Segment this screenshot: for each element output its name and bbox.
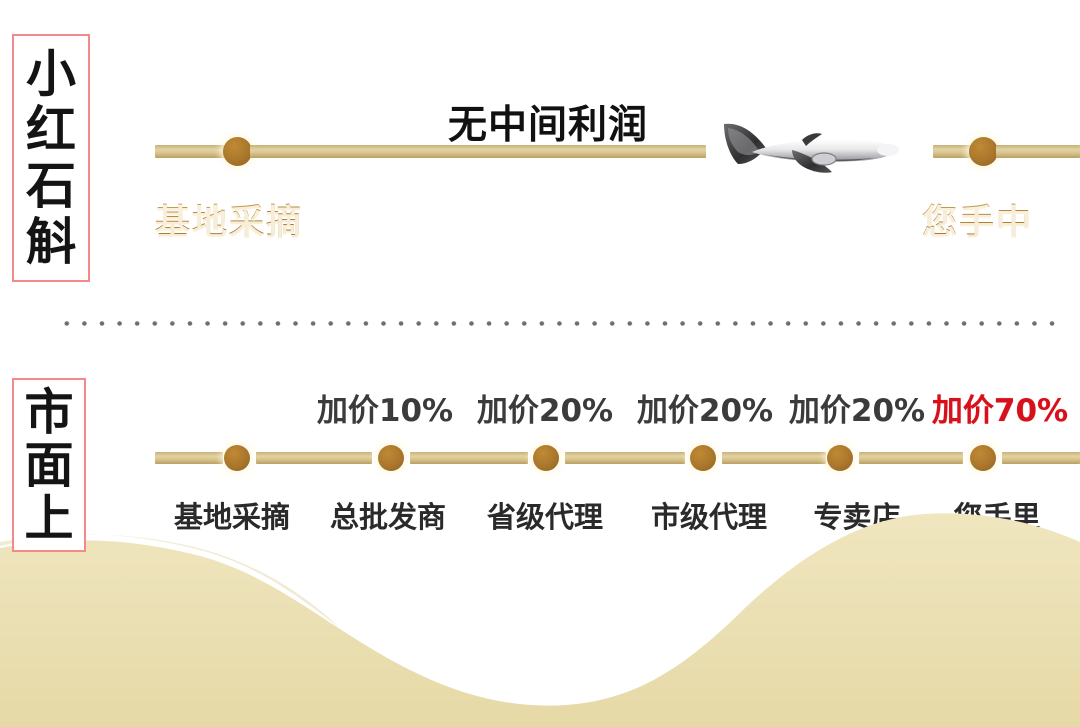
chain-segment-6 [1002, 452, 1080, 464]
chain-segment-5 [859, 452, 963, 464]
brand-char-4: 斛 [26, 217, 76, 267]
chain-node-destination [969, 137, 998, 166]
brand-label-box: 小 红 石 斛 [12, 34, 90, 282]
infographic-canvas: 小 红 石 斛 市 面 上 无中间利润 [0, 0, 1080, 727]
market-label-box: 市 面 上 [12, 378, 86, 552]
airplane-icon [706, 112, 906, 190]
chain-node-3 [533, 445, 559, 471]
market-char-1: 市 [24, 388, 73, 437]
chain-segment-2 [410, 452, 528, 464]
chain-segment-4 [722, 452, 826, 464]
chain-segment-3 [565, 452, 685, 464]
markup-label-5: 加价70% [932, 385, 1068, 430]
destination-caption: 您手中 [922, 194, 1033, 245]
market-channel-chain [150, 443, 1080, 473]
market-char-3: 上 [24, 494, 73, 543]
markup-label-2: 加价20% [477, 385, 613, 430]
chain-node-1 [224, 445, 250, 471]
direct-channel-chain [150, 137, 1080, 167]
markup-label-4: 加价20% [789, 385, 925, 430]
chain-node-4 [690, 445, 716, 471]
origin-caption: 基地采摘 [155, 194, 303, 245]
markup-label-1: 加价10% [317, 385, 453, 430]
brand-char-3: 石 [26, 161, 76, 211]
chain-segment-tail [996, 145, 1080, 158]
decorative-wave [0, 512, 1080, 727]
brand-char-1: 小 [26, 49, 76, 99]
market-char-2: 面 [24, 441, 73, 490]
chain-node-2 [378, 445, 404, 471]
markup-label-3: 加价20% [637, 385, 773, 430]
chain-segment-1 [256, 452, 372, 464]
chain-segment-mid [250, 145, 706, 158]
chain-node-origin [223, 137, 252, 166]
chain-node-5 [827, 445, 853, 471]
dotted-divider [58, 320, 1062, 327]
chain-node-6 [970, 445, 996, 471]
chain-segment-0 [155, 452, 223, 464]
brand-char-2: 红 [26, 105, 76, 155]
